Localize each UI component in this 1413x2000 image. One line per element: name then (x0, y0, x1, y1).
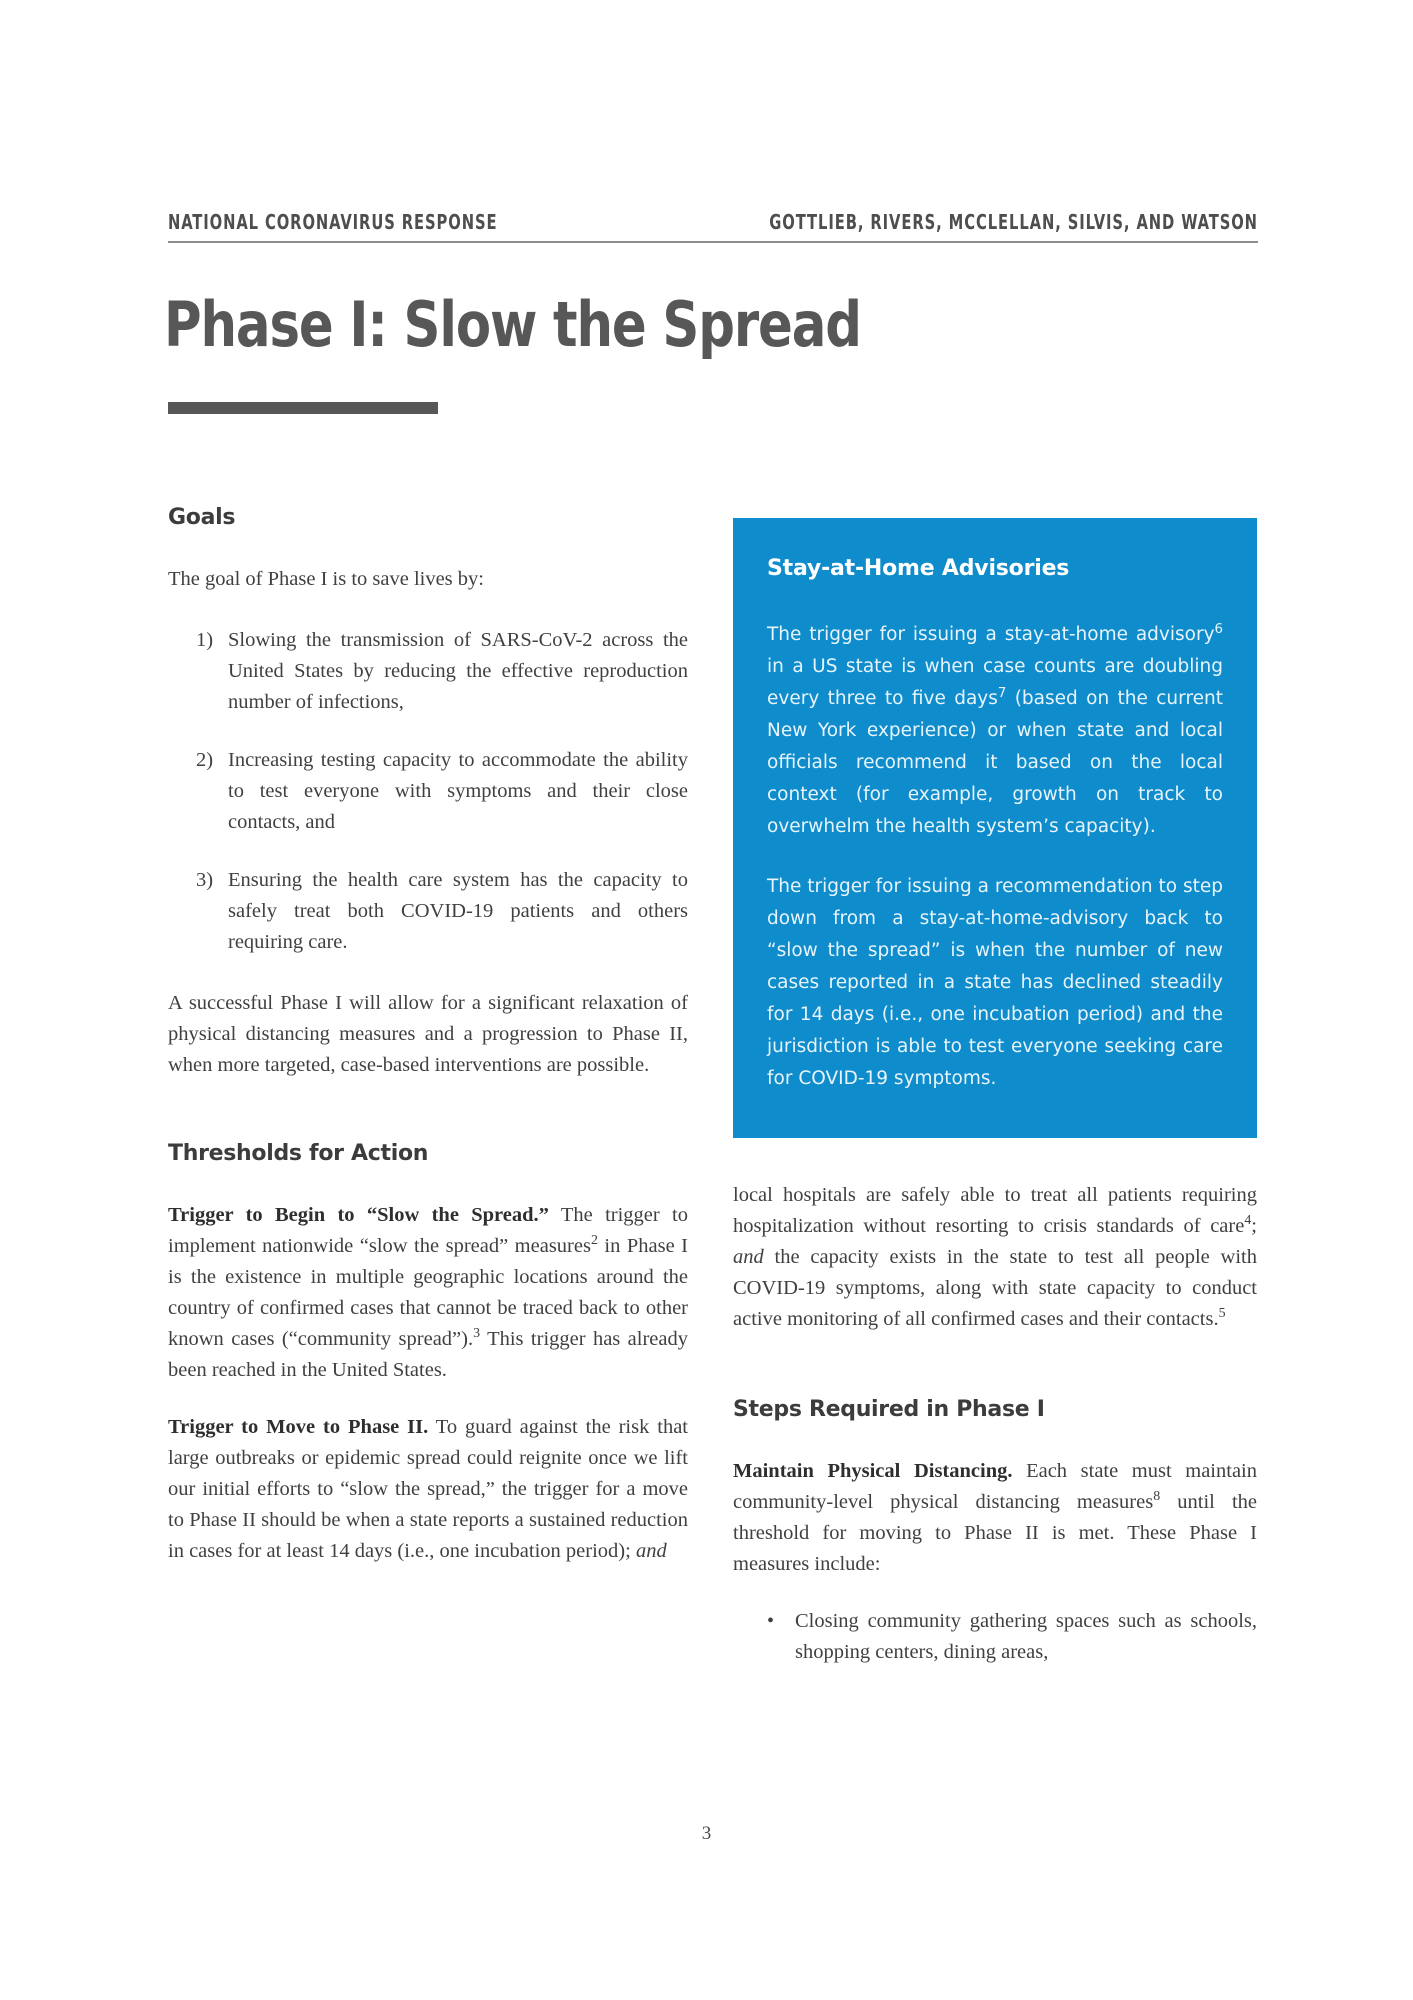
list-item: 3) Ensuring the health care system has t… (196, 865, 688, 958)
bullet-icon: • (767, 1606, 774, 1637)
document-page: NATIONAL CORONAVIRUS RESPONSE GOTTLIEB, … (0, 0, 1413, 2000)
callout-paragraph-2: The trigger for issuing a recommendation… (767, 871, 1223, 1095)
continuation-paragraph: local hospitals are safely able to treat… (733, 1180, 1257, 1335)
callout-p1-text-1: The trigger for issuing a stay-at-home a… (767, 624, 1215, 645)
list-item-text: Closing community gathering spaces such … (795, 1610, 1257, 1663)
trigger-phase2-italic: and (636, 1540, 667, 1562)
trigger-begin-paragraph: Trigger to Begin to “Slow the Spread.” T… (168, 1200, 688, 1386)
list-marker: 2) (196, 745, 224, 776)
callout-p1-text-3: (based on the current New York experienc… (767, 688, 1223, 837)
callout-heading: Stay-at-Home Advisories (767, 556, 1223, 581)
continuation-text-3: the capacity exists in the state to test… (733, 1246, 1257, 1330)
footnote-ref-5: 5 (1219, 1306, 1226, 1321)
trigger-begin-lead: Trigger to Begin to “Slow the Spread.” (168, 1204, 549, 1226)
list-marker: 1) (196, 625, 224, 656)
running-head: NATIONAL CORONAVIRUS RESPONSE GOTTLIEB, … (168, 210, 1258, 243)
list-item-text: Ensuring the health care system has the … (228, 869, 688, 953)
physical-distancing-paragraph: Maintain Physical Distancing. Each state… (733, 1456, 1257, 1580)
trigger-phase2-lead: Trigger to Move to Phase II. (168, 1416, 428, 1438)
goals-heading: Goals (168, 505, 688, 530)
list-item-text: Slowing the transmission of SARS-CoV-2 a… (228, 629, 688, 713)
list-item: 2) Increasing testing capacity to accomm… (196, 745, 688, 838)
continuation-text-1: local hospitals are safely able to treat… (733, 1184, 1257, 1237)
title-rule (168, 402, 438, 414)
running-head-right: GOTTLIEB, RIVERS, MCCLELLAN, SILVIS, AND… (769, 210, 1258, 234)
running-head-left: NATIONAL CORONAVIRUS RESPONSE (168, 210, 497, 234)
footnote-ref-2: 2 (591, 1233, 598, 1248)
steps-heading: Steps Required in Phase I (733, 1397, 1257, 1422)
continuation-italic: and (733, 1246, 764, 1268)
footnote-ref-6: 6 (1215, 622, 1223, 637)
list-item: 1) Slowing the transmission of SARS-CoV-… (196, 625, 688, 718)
page-title: Phase I: Slow the Spread (164, 288, 861, 361)
goals-closing-paragraph: A successful Phase I will allow for a si… (168, 988, 688, 1081)
thresholds-heading: Thresholds for Action (168, 1141, 688, 1166)
physical-distancing-lead: Maintain Physical Distancing. (733, 1460, 1012, 1482)
measures-list: • Closing community gathering spaces suc… (733, 1606, 1257, 1668)
list-item-text: Increasing testing capacity to accommoda… (228, 749, 688, 833)
left-column: Goals The goal of Phase I is to save liv… (168, 505, 688, 1567)
callout-paragraph-1: The trigger for issuing a stay-at-home a… (767, 619, 1223, 843)
right-column: local hospitals are safely able to treat… (733, 1180, 1257, 1676)
goals-list: 1) Slowing the transmission of SARS-CoV-… (168, 625, 688, 958)
trigger-phase2-paragraph: Trigger to Move to Phase II. To guard ag… (168, 1412, 688, 1567)
list-marker: 3) (196, 865, 224, 896)
stay-at-home-callout: Stay-at-Home Advisories The trigger for … (733, 518, 1257, 1138)
goals-intro: The goal of Phase I is to save lives by: (168, 564, 688, 595)
page-number: 3 (0, 1823, 1413, 1845)
list-item: • Closing community gathering spaces suc… (765, 1606, 1257, 1668)
continuation-text-2: ; (1251, 1215, 1257, 1237)
